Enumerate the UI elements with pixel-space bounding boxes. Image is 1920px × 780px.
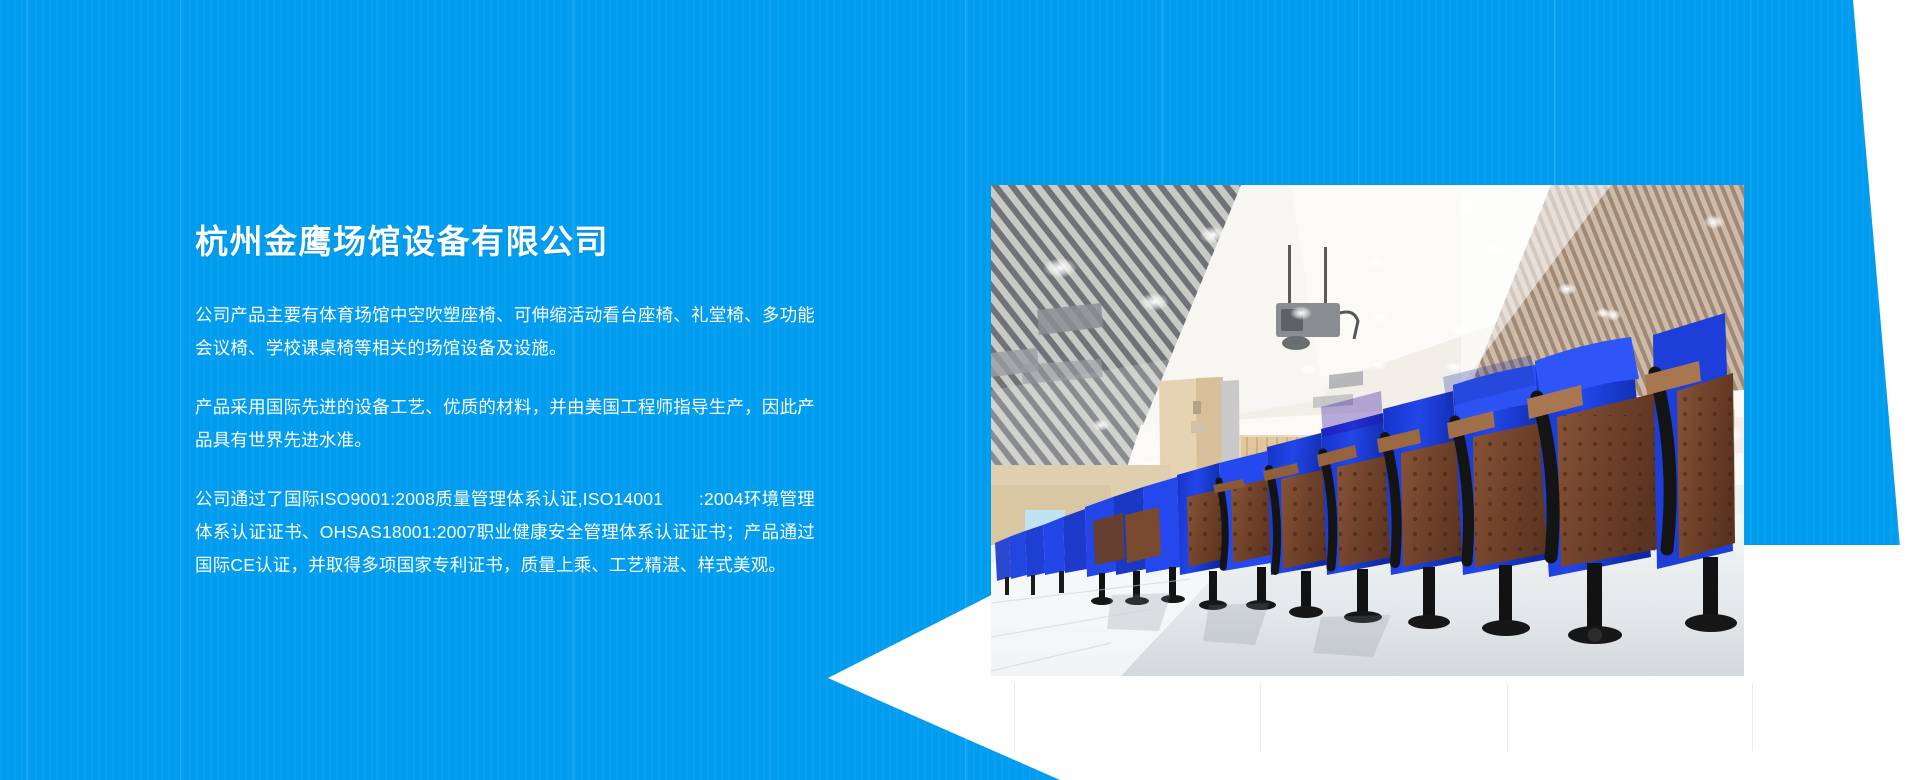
separator-tick-2 (1260, 683, 1261, 751)
intro-paragraph-quality: 产品采用国际先进的设备工艺、优质的材料，并由美国工程师指导生产，因此产品具有世界… (195, 391, 815, 457)
auditorium-seating-photo (991, 185, 1744, 676)
intro-paragraph-products: 公司产品主要有体育场馆中空吹塑座椅、可伸缩活动看台座椅、礼堂椅、多功能会议椅、学… (195, 299, 815, 365)
separator-tick-3 (1507, 683, 1508, 751)
hero-copy-block: 杭州金鹰场馆设备有限公司 公司产品主要有体育场馆中空吹塑座椅、可伸缩活动看台座椅… (195, 222, 815, 582)
page-title: 杭州金鹰场馆设备有限公司 (195, 222, 815, 262)
separator-tick-1 (1014, 683, 1015, 751)
intro-paragraph-certifications: 公司通过了国际ISO9001:2008质量管理体系认证,ISO14001 :20… (195, 483, 815, 582)
separator-tick-4 (1752, 683, 1753, 751)
photo-illustration (991, 185, 1744, 676)
